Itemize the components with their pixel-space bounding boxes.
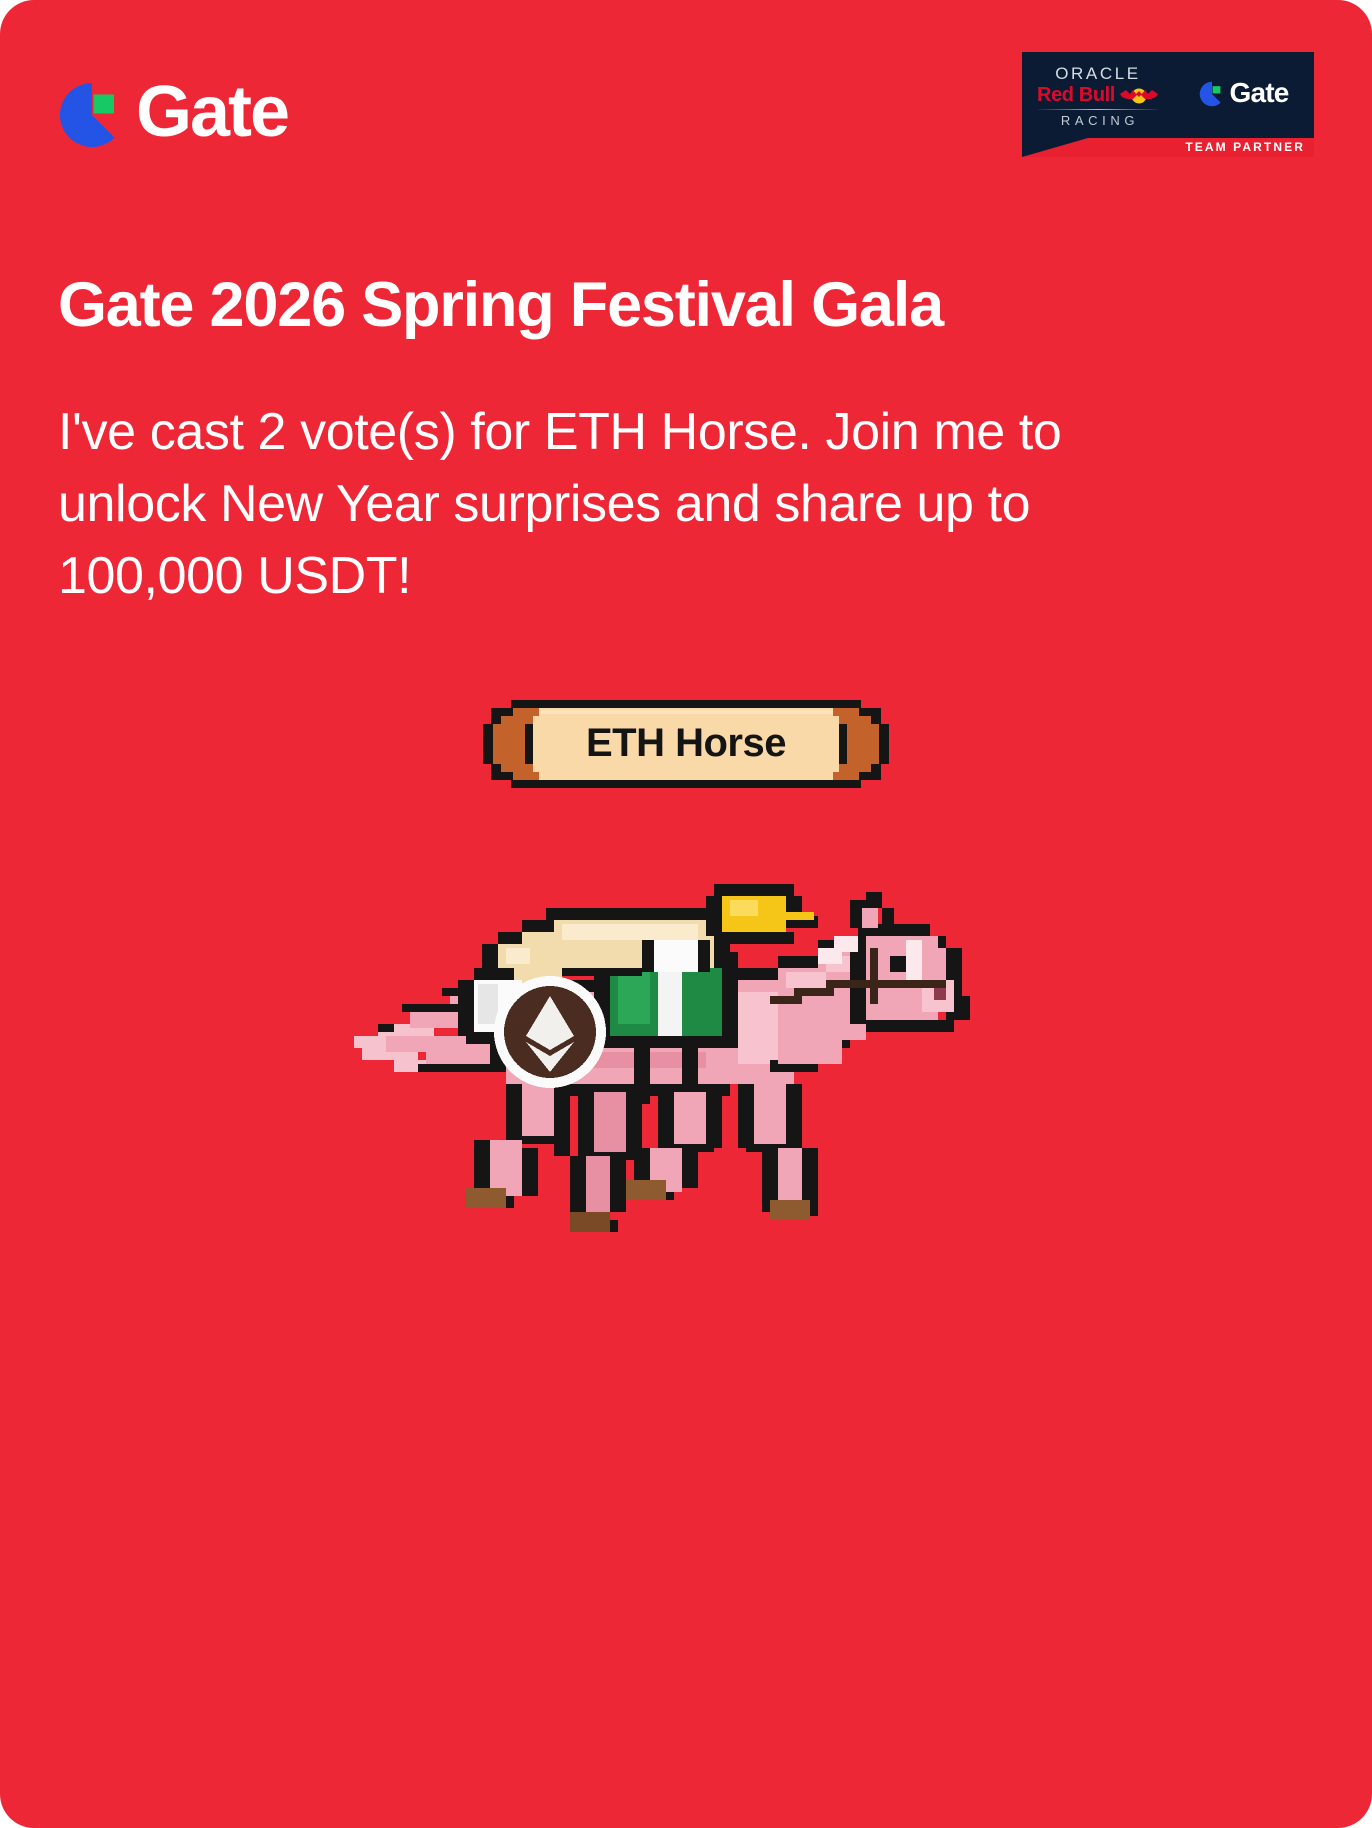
racing-wordmark: RACING — [1057, 114, 1139, 127]
page-title: Gate 2026 Spring Festival Gala — [58, 270, 1208, 341]
gate-logo-wordmark: Gate — [136, 76, 288, 148]
team-partner-label: TEAM PARTNER — [1185, 141, 1305, 153]
gate-logo[interactable]: Gate — [58, 78, 288, 152]
eth-horse-sprite — [346, 860, 1026, 1260]
strip-notch — [1022, 138, 1088, 157]
partner-gate-wordmark: Gate — [1229, 79, 1288, 107]
red-bull-racing-lockup: ORACLE Red Bull RACIN — [1022, 52, 1174, 138]
partner-gate-lockup: Gate — [1174, 80, 1314, 110]
red-bull-icon — [1119, 85, 1159, 105]
card-header: Gate ORACLE Red Bull — [0, 0, 1372, 200]
share-message: I've cast 2 vote(s) for ETH Horse. Join … — [58, 397, 1136, 612]
red-bull-wordmark: Red Bull — [1037, 85, 1115, 105]
oracle-wordmark: ORACLE — [1055, 65, 1141, 82]
badge-divider — [1038, 109, 1158, 110]
horse-name-banner-container: ETH Horse — [0, 694, 1372, 794]
team-partner-strip: TEAM PARTNER — [1022, 138, 1314, 157]
share-card: Gate ORACLE Red Bull — [0, 0, 1372, 1828]
red-bull-row: Red Bull — [1037, 85, 1159, 105]
horse-sprite-container — [0, 860, 1372, 1280]
oracle-red-bull-racing-partner-badge: ORACLE Red Bull RACIN — [1022, 52, 1314, 157]
gate-arc-icon — [1199, 81, 1225, 107]
gate-arc-icon — [58, 81, 126, 149]
horse-name-label: ETH Horse — [481, 694, 891, 794]
horse-name-banner: ETH Horse — [481, 694, 891, 794]
ethereum-icon — [494, 976, 606, 1088]
partner-badge-body: ORACLE Red Bull RACIN — [1022, 52, 1314, 138]
